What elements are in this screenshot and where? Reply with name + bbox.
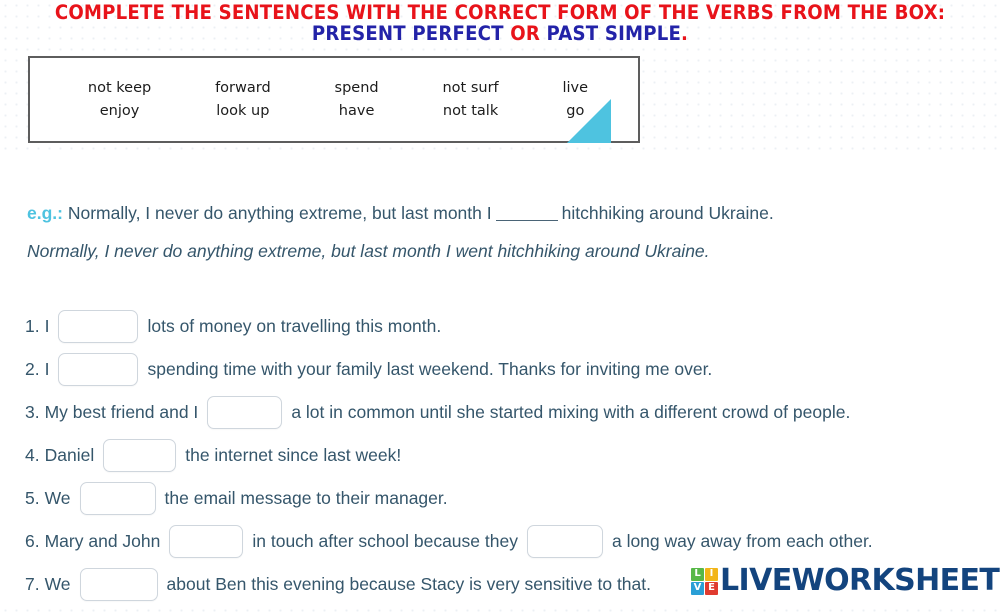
example-prompt-after: hitchhiking around Ukraine.: [562, 203, 774, 223]
answer-input-5-1[interactable]: [80, 482, 156, 515]
title-past-simple: PAST SIMPLE: [540, 22, 681, 45]
word-bank-box: not keep enjoy forward look up spend hav…: [28, 56, 640, 143]
question-text: I: [45, 316, 50, 337]
word-bank-word: not talk: [442, 100, 498, 123]
title-present-perfect: PRESENT PERFECT: [312, 22, 510, 45]
title-or: OR: [510, 22, 540, 45]
question-number: 5.: [25, 488, 40, 509]
question-row-6: 6. Mary and John in touch after school b…: [25, 525, 873, 558]
answer-input-7-1[interactable]: [80, 568, 158, 601]
question-number: 7.: [25, 574, 40, 595]
example-tag: e.g.:: [27, 203, 63, 223]
word-bank-column: forward look up: [215, 77, 271, 123]
word-bank-word: enjoy: [88, 100, 151, 123]
liveworksheets-watermark: L I V E LIVEWORKSHEETS: [691, 566, 1000, 596]
answer-input-6-1[interactable]: [169, 525, 243, 558]
word-bank-word: not surf: [442, 77, 498, 100]
logo-tile-i: I: [705, 568, 718, 581]
word-bank-word: look up: [215, 100, 271, 123]
worksheet-page: COMPLETE THE SENTENCES WITH THE CORRECT …: [0, 0, 1000, 614]
title-line-1: COMPLETE THE SENTENCES WITH THE CORRECT …: [35, 2, 965, 23]
question-number: 4.: [25, 445, 40, 466]
question-text: My best friend and I: [45, 402, 199, 423]
word-bank-column: not keep enjoy: [88, 77, 151, 123]
answer-input-3-1[interactable]: [207, 396, 282, 429]
question-text: a long way away from each other.: [612, 531, 873, 552]
question-number: 6.: [25, 531, 40, 552]
page-fold-corner-icon: [567, 99, 611, 143]
answer-input-1-1[interactable]: [58, 310, 138, 343]
word-bank-word: live: [563, 77, 589, 100]
answer-input-4-1[interactable]: [103, 439, 176, 472]
word-bank-column: not surf not talk: [442, 77, 498, 123]
question-number: 3.: [25, 402, 40, 423]
logo-tile-v: V: [691, 582, 704, 595]
logo-tile-e: E: [705, 582, 718, 595]
question-row-1: 1. I lots of money on travelling this mo…: [25, 310, 441, 343]
example-blank: [496, 208, 558, 221]
answer-input-2-1[interactable]: [58, 353, 138, 386]
logo-tile-l: L: [691, 568, 704, 581]
question-text: lots of money on travelling this month.: [147, 316, 441, 337]
title-line-2: PRESENT PERFECT OR PAST SIMPLE.: [35, 23, 965, 44]
question-text: spending time with your family last week…: [147, 359, 712, 380]
question-text: Mary and John: [45, 531, 161, 552]
answer-input-6-2[interactable]: [527, 525, 603, 558]
question-row-5: 5. We the email message to their manager…: [25, 482, 448, 515]
example-prompt-before: Normally, I never do anything extreme, b…: [63, 203, 492, 223]
question-row-2: 2. I spending time with your family last…: [25, 353, 712, 386]
question-text: We: [45, 574, 71, 595]
title-period: .: [681, 22, 688, 45]
question-text: the email message to their manager.: [165, 488, 448, 509]
example-answer: Normally, I never do anything extreme, b…: [27, 241, 710, 262]
question-row-3: 3. My best friend and I a lot in common …: [25, 396, 850, 429]
question-text: Daniel: [45, 445, 95, 466]
question-text: a lot in common until she started mixing…: [291, 402, 850, 423]
word-bank-word: not keep: [88, 77, 151, 100]
question-text: We: [45, 488, 71, 509]
watermark-wordmark: LIVEWORKSHEETS: [720, 566, 1000, 596]
question-text: I: [45, 359, 50, 380]
question-row-4: 4. Daniel the internet since last week!: [25, 439, 401, 472]
word-bank-word: spend: [335, 77, 379, 100]
question-text: in touch after school because they: [252, 531, 518, 552]
question-number: 2.: [25, 359, 40, 380]
question-text: about Ben this evening because Stacy is …: [167, 574, 651, 595]
word-bank-word: have: [335, 100, 379, 123]
word-bank-column: spend have: [335, 77, 379, 123]
question-number: 1.: [25, 316, 40, 337]
question-text: the internet since last week!: [185, 445, 401, 466]
word-bank-word: forward: [215, 77, 271, 100]
question-row-7: 7. We about Ben this evening because Sta…: [25, 568, 651, 601]
liveworksheets-logo-icon: L I V E: [691, 568, 718, 595]
example-prompt: e.g.: Normally, I never do anything extr…: [27, 203, 774, 224]
page-title: COMPLETE THE SENTENCES WITH THE CORRECT …: [35, 0, 965, 44]
